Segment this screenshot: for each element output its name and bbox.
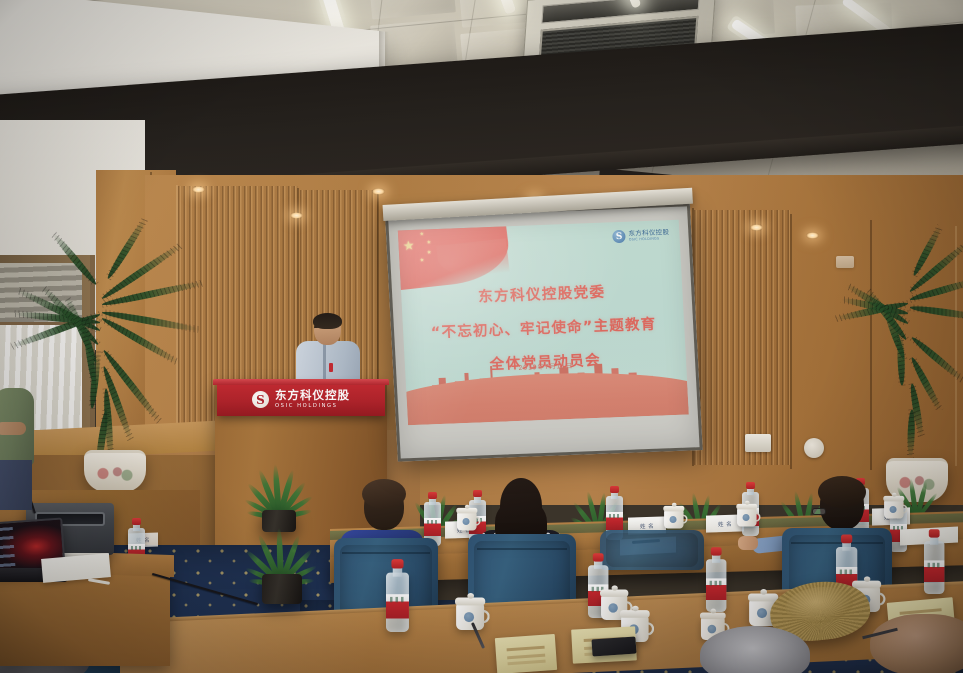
slide-title-line-2: “不忘初心、牢记使命”主题教育: [403, 312, 685, 344]
meeting-booklet: [495, 634, 557, 673]
slide-org-logo: S 东方科仪控股 OSIC HOLDINGS: [612, 228, 669, 243]
conference-chair: [600, 530, 704, 570]
osic-monogram-icon: S: [612, 230, 626, 243]
ceramic-mug-with-lid: [736, 502, 759, 527]
presentation-slide: ★ ★ ★ ★ ★ S 东方科仪控股 OSIC HOLDINGS 东方科仪控股党…: [398, 220, 689, 426]
name-card-text: 姓 名: [718, 519, 732, 527]
recessed-downlight: [290, 212, 303, 219]
ceramic-mug-with-lid: [663, 504, 686, 529]
podium-banner-cn: 东方科仪控股: [275, 390, 350, 402]
ceramic-plant-pot: [84, 450, 146, 492]
podium-banner-en: OSIC HOLDINGS: [275, 404, 350, 409]
wall-outlet-plate: [745, 434, 771, 452]
chinese-flag-graphic: ★ ★ ★ ★ ★: [398, 220, 513, 291]
wall-speaker-icon: [804, 438, 824, 458]
party-badge-icon: [329, 363, 333, 372]
attendee-grey-hair-foreground: [700, 626, 810, 673]
recessed-downlight: [192, 186, 205, 193]
spider-plant-podium: [232, 458, 328, 524]
slide-skyline-graphic: [405, 353, 689, 426]
wall-slat-panel-right: [694, 210, 790, 465]
slide-logo-en: OSIC HOLDINGS: [629, 237, 670, 242]
recessed-downlight: [750, 224, 763, 231]
attendee-foreground-right: [870, 614, 963, 673]
spider-plant-left-floor: [226, 520, 336, 590]
projection-screen: ★ ★ ★ ★ ★ S 东方科仪控股 OSIC HOLDINGS 东方科仪控股党…: [385, 203, 703, 461]
presenter-at-podium: [292, 314, 364, 389]
water-bottle: [924, 529, 944, 594]
ceramic-mug-with-lid: [883, 494, 906, 519]
name-card-text: 姓 名: [640, 521, 654, 529]
recessed-downlight: [372, 188, 385, 195]
water-bottle: [706, 547, 726, 612]
podium-banner: S 东方科仪控股 OSIC HOLDINGS: [217, 383, 385, 416]
water-bottle: [386, 559, 409, 632]
potted-palm-left: [18, 255, 198, 495]
recessed-downlight: [806, 232, 819, 239]
conference-room-photo: ★ ★ ★ ★ ★ S 东方科仪控股 OSIC HOLDINGS 东方科仪控股党…: [0, 0, 963, 673]
notebook: [591, 636, 636, 656]
attendee-standing-left: [0, 388, 38, 508]
osic-monogram-icon: S: [252, 391, 269, 408]
ceramic-mug-with-lid: [456, 506, 479, 531]
